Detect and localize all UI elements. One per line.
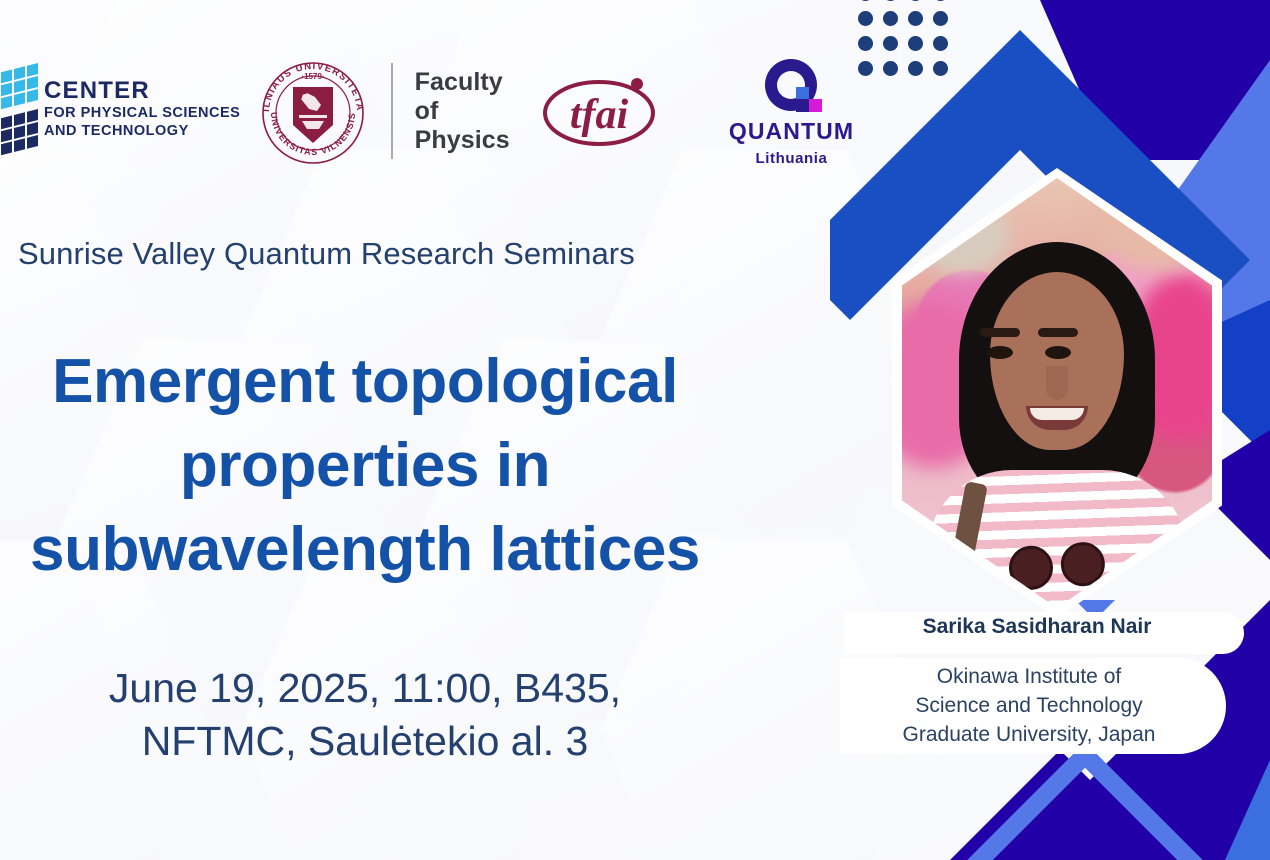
- svg-text:·1579·: ·1579·: [301, 72, 324, 81]
- ftmc-logo-text: CENTER FOR PHYSICAL SCIENCES AND TECHNOL…: [44, 78, 244, 140]
- affiliation-line-1: Okinawa Institute of: [840, 662, 1218, 691]
- affiliation-line-3: Graduate University, Japan: [840, 720, 1218, 749]
- tfai-ellipse-icon: tfai: [540, 68, 658, 154]
- seminar-datetime-line-2: NFTMC, Saulėtekio al. 3: [0, 715, 760, 768]
- poster-left-content: CENTER FOR PHYSICAL SCIENCES AND TECHNOL…: [0, 0, 860, 860]
- ftmc-line2: FOR PHYSICAL SCIENCES: [44, 104, 244, 122]
- speaker-photo: [902, 178, 1212, 608]
- ftmc-line3: AND TECHNOLOGY: [44, 122, 244, 140]
- speaker-affiliation: Okinawa Institute of Science and Technol…: [840, 662, 1218, 749]
- seminar-title-line-1: Emergent topological: [0, 340, 770, 424]
- seminar-title-line-3: subwavelength lattices: [0, 508, 770, 592]
- speaker-name: Sarika Sasidharan Nair: [844, 615, 1230, 639]
- tfai-wordmark: tfai: [570, 92, 629, 138]
- vu-seal-icon: VILNIAUS UNIVERSITETAS UNIVERSITAS VILNE…: [255, 55, 371, 167]
- seminar-poster: CENTER FOR PHYSICAL SCIENCES AND TECHNOL…: [0, 0, 1270, 860]
- faculty-of-physics-logo: Faculty of Physics: [415, 68, 525, 155]
- tfai-logo: tfai: [540, 68, 658, 154]
- seminar-datetime-venue: June 19, 2025, 11:00, B435, NFTMC, Saulė…: [0, 662, 760, 768]
- ftmc-line1: CENTER: [44, 78, 244, 104]
- faculty-line2: Physics: [415, 126, 525, 155]
- seminar-series-label: Sunrise Valley Quantum Research Seminars: [18, 236, 818, 272]
- faculty-line1: Faculty of: [415, 68, 525, 126]
- dot-grid-pattern: [858, 0, 966, 78]
- seminar-title-line-2: properties in: [0, 424, 770, 508]
- poster-right-graphic-panel: Sarika Sasidharan Nair Okinawa Institute…: [830, 0, 1270, 860]
- seminar-datetime-line-1: June 19, 2025, 11:00, B435,: [0, 662, 760, 715]
- seminar-title: Emergent topological properties in subwa…: [0, 340, 770, 592]
- affiliation-line-2: Science and Technology: [840, 691, 1218, 720]
- logo-row: CENTER FOR PHYSICAL SCIENCES AND TECHNOL…: [0, 52, 860, 170]
- sunglasses: [1008, 541, 1107, 594]
- ftmc-logo: CENTER FOR PHYSICAL SCIENCES AND TECHNOL…: [0, 56, 217, 166]
- vilnius-university-seal: VILNIAUS UNIVERSITETAS UNIVERSITAS VILNE…: [255, 55, 371, 167]
- logo-divider: [391, 63, 393, 159]
